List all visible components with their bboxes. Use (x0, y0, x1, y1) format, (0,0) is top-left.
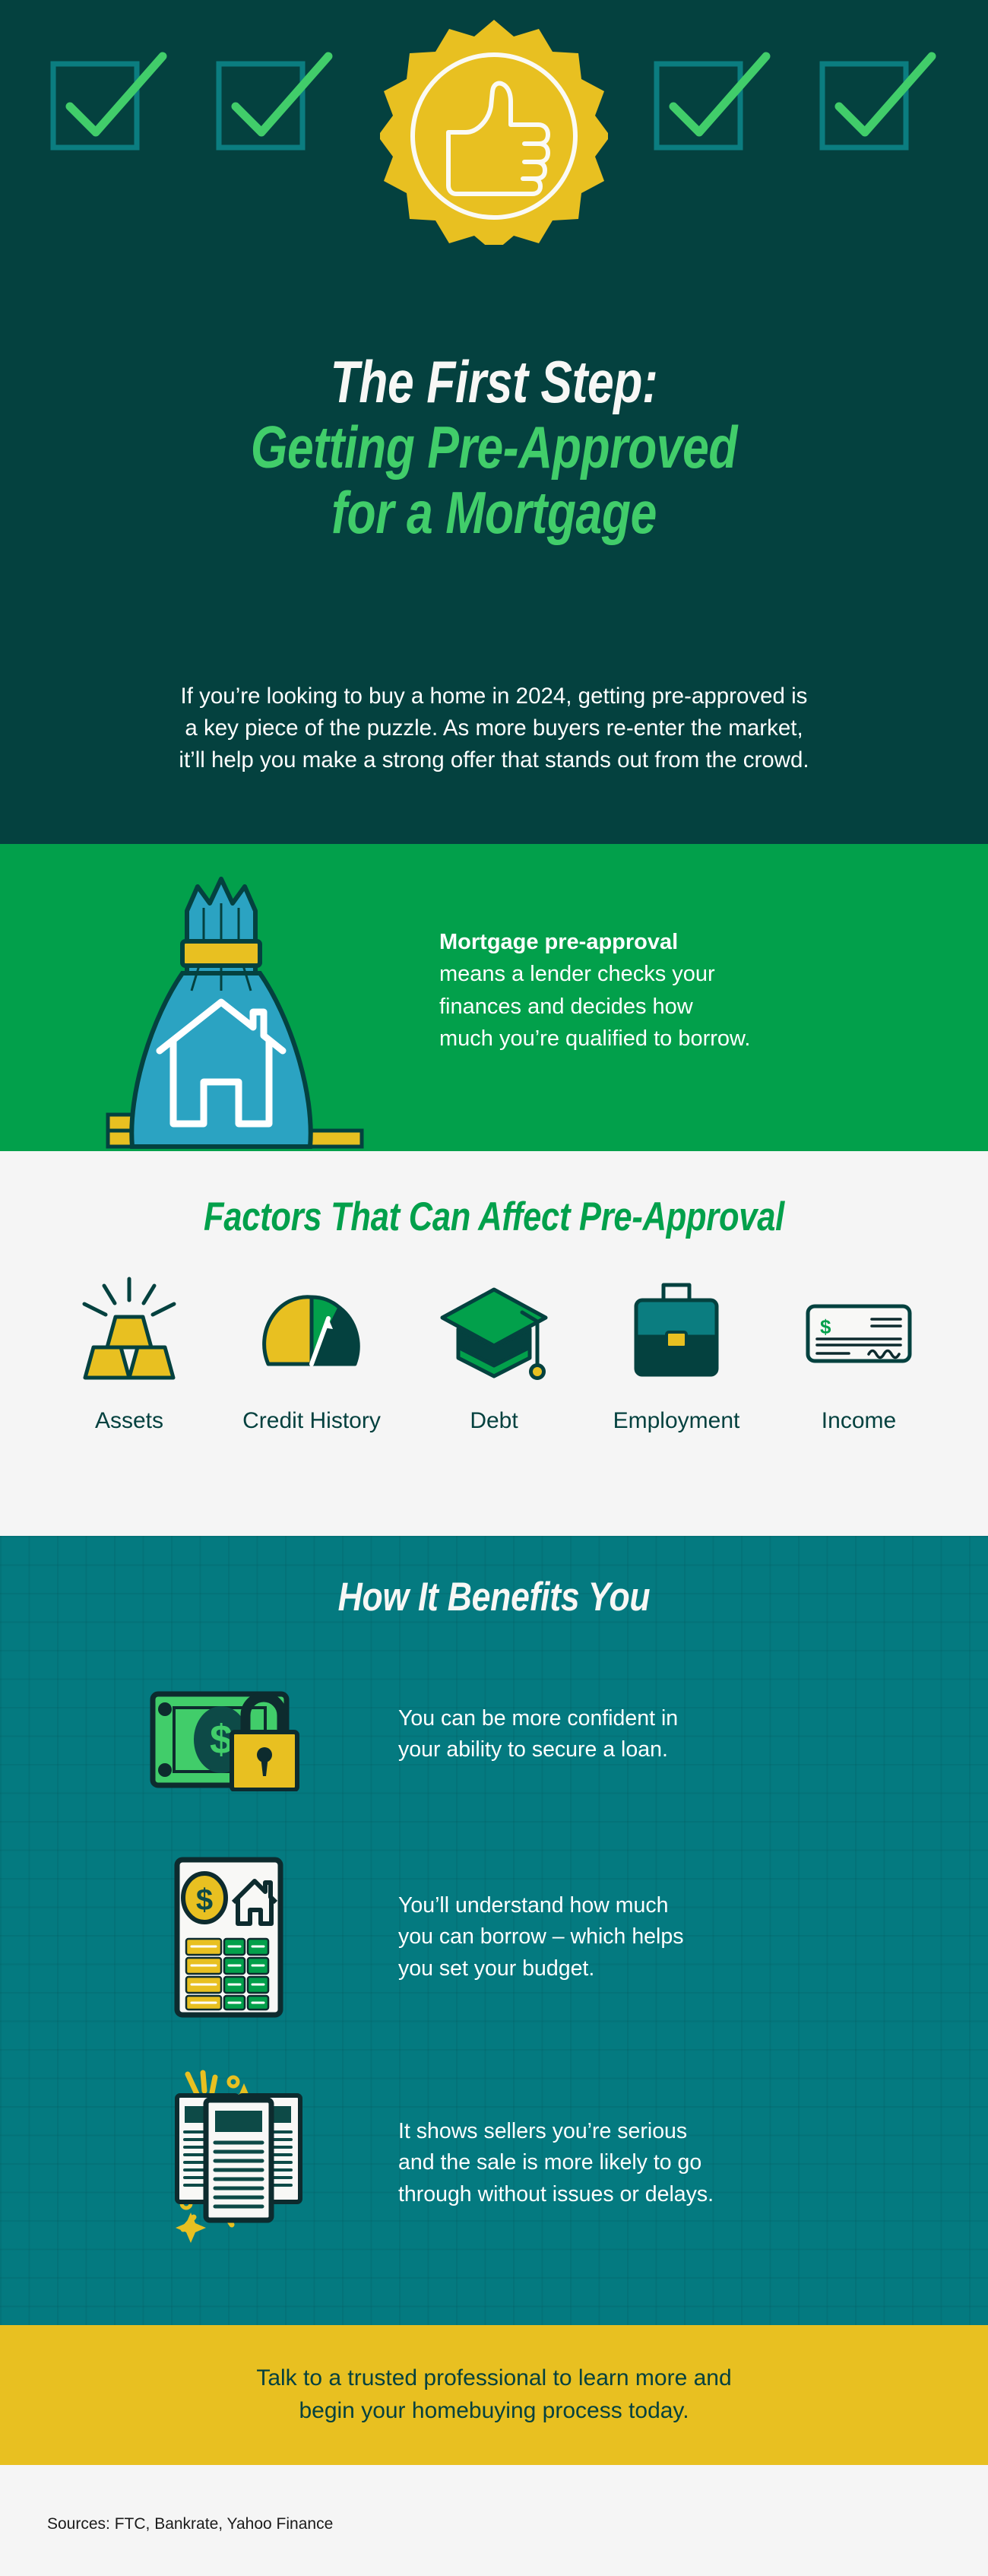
factors-list: Assets Credit History (46, 1267, 942, 1436)
title-line-3: for a Mortgage (99, 481, 889, 546)
svg-text:$: $ (196, 1883, 213, 1917)
definition-section: Mortgage pre-approval means a lender che… (0, 844, 988, 1151)
benefit-line-1: You can be more confident in (398, 1703, 678, 1734)
benefit-item: It shows sellers you’re serious and the … (114, 2068, 889, 2258)
money-bag-with-house-icon (97, 873, 371, 1151)
checkbox-checked-icon (652, 46, 774, 152)
cta-section: Talk to a trusted professional to learn … (0, 2325, 988, 2465)
benefits-section: How It Benefits You $ You can be more (0, 1536, 988, 2325)
hero-icon-row (0, 46, 988, 274)
briefcase-icon (593, 1267, 760, 1396)
bank-check-icon: $ (775, 1267, 942, 1396)
benefit-line-2: and the sale is more likely to go (398, 2147, 714, 2178)
svg-text:$: $ (210, 1717, 233, 1762)
factor-label: Assets (46, 1407, 213, 1436)
checkbox-checked-icon (49, 46, 170, 152)
hero-subtitle-line-1: If you’re looking to buy a home in 2024,… (76, 680, 912, 712)
documents-sparkle-icon (114, 2068, 365, 2258)
title-line-1: The First Step: (99, 350, 889, 415)
factor-item-income: $ Income (775, 1267, 942, 1436)
infographic-page: The First Step: Getting Pre-Approved for… (0, 0, 988, 2576)
benefit-text: You can be more confident in your abilit… (392, 1703, 678, 1765)
factor-label: Credit History (228, 1407, 395, 1436)
cta-line-2: begin your homebuying process today. (256, 2395, 731, 2428)
money-lock-icon: $ (114, 1677, 365, 1791)
sources-text: Sources: FTC, Bankrate, Yahoo Finance (47, 2515, 333, 2533)
svg-text:$: $ (820, 1315, 831, 1338)
hero-subtitle: If you’re looking to buy a home in 2024,… (76, 680, 912, 776)
definition-line-3: finances and decides how (439, 991, 895, 1023)
hero-subtitle-line-3: it’ll help you make a strong offer that … (76, 744, 912, 776)
factor-item-credit-history: Credit History (228, 1267, 395, 1436)
credit-gauge-icon (228, 1267, 395, 1396)
definition-line-2: means a lender checks your (439, 958, 895, 990)
budget-calculator-icon: $ (114, 1854, 365, 2021)
cta-text: Talk to a trusted professional to learn … (256, 2362, 731, 2427)
factor-label: Debt (410, 1407, 578, 1436)
factor-item-debt: Debt (410, 1267, 578, 1436)
footer-section: Sources: FTC, Bankrate, Yahoo Finance (0, 2465, 988, 2576)
gold-bars-icon (46, 1267, 213, 1396)
definition-text: Mortgage pre-approval means a lender che… (439, 926, 895, 1055)
benefit-line-1: You’ll understand how much (398, 1890, 683, 1921)
benefit-item: $ (114, 1854, 889, 2021)
hero-subtitle-line-2: a key piece of the puzzle. As more buyer… (76, 712, 912, 744)
thumbs-up-seal-icon (380, 17, 608, 245)
benefit-line-2: you can borrow – which helps (398, 1921, 683, 1953)
benefits-title: How It Benefits You (79, 1574, 909, 1620)
checkbox-checked-icon (214, 46, 336, 152)
definition-line-4: much you’re qualified to borrow. (439, 1023, 895, 1055)
factors-section: Factors That Can Affect Pre-Approval (0, 1151, 988, 1536)
checkbox-checked-icon (818, 46, 939, 152)
factor-label: Income (775, 1407, 942, 1436)
benefit-item: $ You can be more confident in your abil… (114, 1677, 889, 1791)
benefit-line-2: your ability to secure a loan. (398, 1734, 678, 1765)
definition-bold: Mortgage pre-approval (439, 926, 895, 958)
hero-section: The First Step: Getting Pre-Approved for… (0, 0, 988, 844)
factor-item-employment: Employment (593, 1267, 760, 1436)
title-line-2: Getting Pre-Approved (99, 415, 889, 481)
factor-label: Employment (593, 1407, 760, 1436)
factor-item-assets: Assets (46, 1267, 213, 1436)
benefit-line-1: It shows sellers you’re serious (398, 2116, 714, 2147)
cta-line-1: Talk to a trusted professional to learn … (256, 2362, 731, 2395)
benefit-text: It shows sellers you’re serious and the … (392, 2116, 714, 2210)
benefit-line-3: through without issues or delays. (398, 2179, 714, 2210)
benefit-line-3: you set your budget. (398, 1953, 683, 1984)
graduation-cap-icon (410, 1267, 578, 1396)
benefit-text: You’ll understand how much you can borro… (392, 1890, 683, 1984)
factors-title: Factors That Can Affect Pre-Approval (89, 1194, 899, 1240)
page-title: The First Step: Getting Pre-Approved for… (99, 350, 889, 545)
